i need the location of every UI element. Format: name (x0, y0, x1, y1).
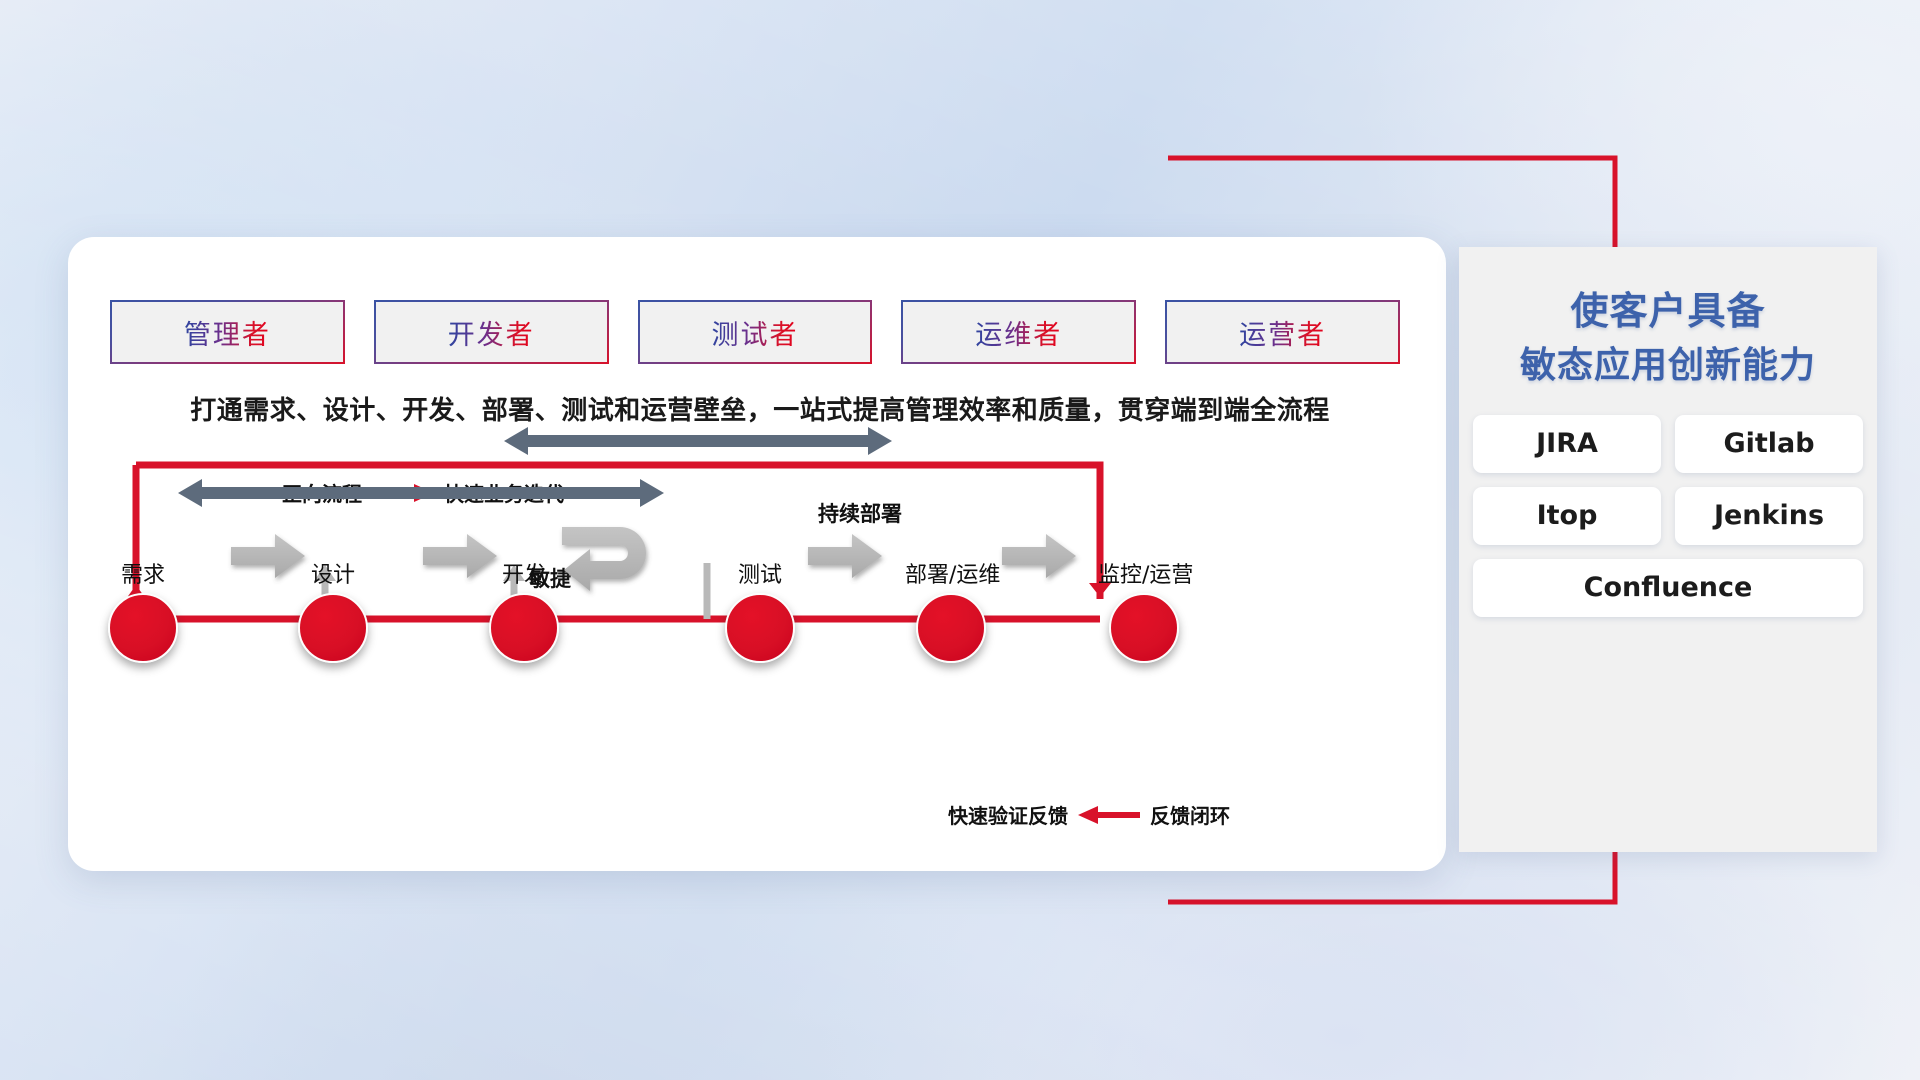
node-label: 测试 (714, 557, 806, 589)
role-label: 测试者 (711, 313, 798, 352)
node-dot (489, 593, 559, 663)
tool-jenkins[interactable]: Jenkins (1675, 487, 1863, 545)
arrow-continuous-deploy (504, 427, 892, 455)
node-dot (298, 593, 368, 663)
node-dot (108, 593, 178, 663)
right-panel: 使客户具备 敏态应用创新能力 JIRA Gitlab Itop Jenkins … (1459, 247, 1877, 852)
panel-title-line-1: 使客户具备 (1469, 283, 1867, 339)
panel-title-line-2: 敏态应用创新能力 (1469, 339, 1867, 392)
node-5[interactable]: 监控/运营 (1098, 557, 1190, 663)
tool-jira[interactable]: JIRA (1473, 415, 1661, 473)
chevron-arrow-5 (1002, 534, 1076, 578)
node-0[interactable]: 需求 (97, 557, 189, 663)
tool-confluence[interactable]: Confluence (1473, 559, 1863, 617)
node-label: 监控/运营 (1098, 557, 1190, 589)
node-label: 部署/运维 (905, 557, 997, 589)
role-label: 运营者 (1239, 313, 1326, 352)
arrow-agile (178, 479, 664, 507)
node-1[interactable]: 设计 (287, 557, 379, 663)
node-dot (916, 593, 986, 663)
tool-list: JIRA Gitlab Itop Jenkins Confluence (1473, 415, 1863, 617)
node-3[interactable]: 测试 (714, 557, 806, 663)
role-label: 开发者 (448, 313, 535, 352)
node-4[interactable]: 部署/运维 (905, 557, 997, 663)
node-dot (725, 593, 795, 663)
node-dot (1109, 593, 1179, 663)
loopback-arrow-icon (562, 527, 646, 591)
node-label: 开发 (478, 557, 570, 589)
tool-itop[interactable]: Itop (1473, 487, 1661, 545)
panel-title: 使客户具备 敏态应用创新能力 (1459, 247, 1877, 393)
role-label: 管理者 (184, 313, 271, 352)
node-label: 需求 (97, 557, 189, 589)
tool-gitlab[interactable]: Gitlab (1675, 415, 1863, 473)
chevron-arrow-4 (808, 534, 882, 578)
node-label: 设计 (287, 557, 379, 589)
node-2[interactable]: 开发 (478, 557, 570, 663)
role-label: 运维者 (975, 313, 1062, 352)
